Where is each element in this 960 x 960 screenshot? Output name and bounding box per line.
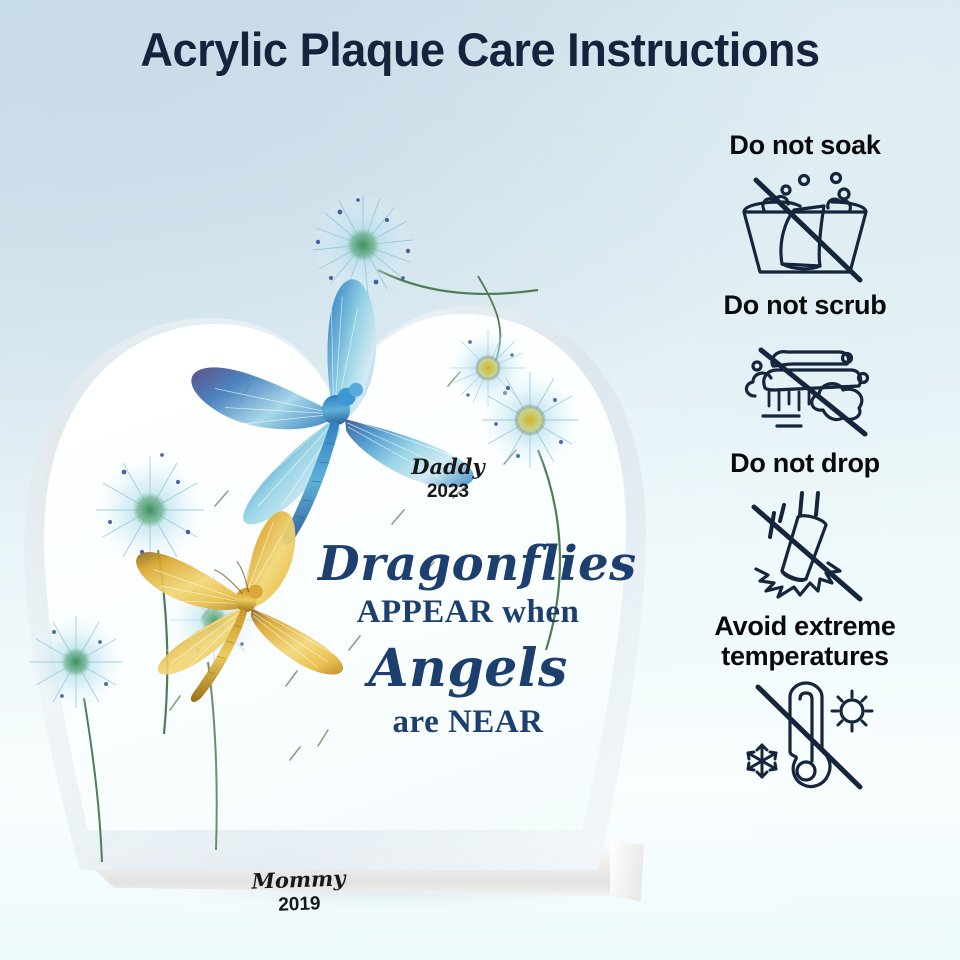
quote-line-3: Angels — [318, 638, 618, 700]
no-scrub-brush-icon — [715, 324, 895, 442]
dandelion-puff — [311, 193, 538, 297]
personalization-year: 2019 — [240, 890, 359, 920]
no-drop-impact-icon — [720, 483, 890, 605]
plaque-quote: Dragonflies APPEAR when Angels are NEAR — [318, 540, 618, 744]
quote-line-2: APPEAR when — [318, 588, 618, 638]
personalization-daddy: Daddy 2023 — [388, 455, 508, 505]
quote-line-1: Dragonflies — [318, 540, 618, 588]
care-item-do-not-soak: Do not soak — [655, 130, 955, 284]
personalization-name: Daddy — [388, 455, 508, 479]
care-instructions-list: Do not soak Do not scrub — [655, 130, 955, 799]
care-item-avoid-extreme-temperatures: Avoid extreme temperatures — [655, 611, 955, 793]
care-item-label: Do not drop — [655, 448, 955, 478]
acrylic-heart-plaque: Dragonflies APPEAR when Angels are NEAR … — [18, 150, 658, 890]
plaque-printed-face — [44, 172, 632, 850]
plaque-right-edge — [610, 840, 644, 902]
care-item-do-not-scrub: Do not scrub — [655, 290, 955, 442]
no-extreme-temperature-thermometer-icon — [720, 675, 890, 793]
care-item-label: Do not scrub — [655, 290, 955, 320]
personalization-year: 2023 — [388, 479, 508, 505]
personalization-name: Mommy — [239, 866, 358, 894]
no-soak-basin-icon — [720, 164, 890, 284]
personalization-mommy: Mommy 2019 — [239, 866, 359, 920]
care-item-label: Avoid extreme temperatures — [655, 611, 955, 671]
quote-line-4: are NEAR — [318, 700, 618, 745]
page-title: Acrylic Plaque Care Instructions — [19, 22, 941, 77]
care-item-label: Do not soak — [655, 130, 955, 160]
care-item-do-not-drop: Do not drop — [655, 448, 955, 604]
